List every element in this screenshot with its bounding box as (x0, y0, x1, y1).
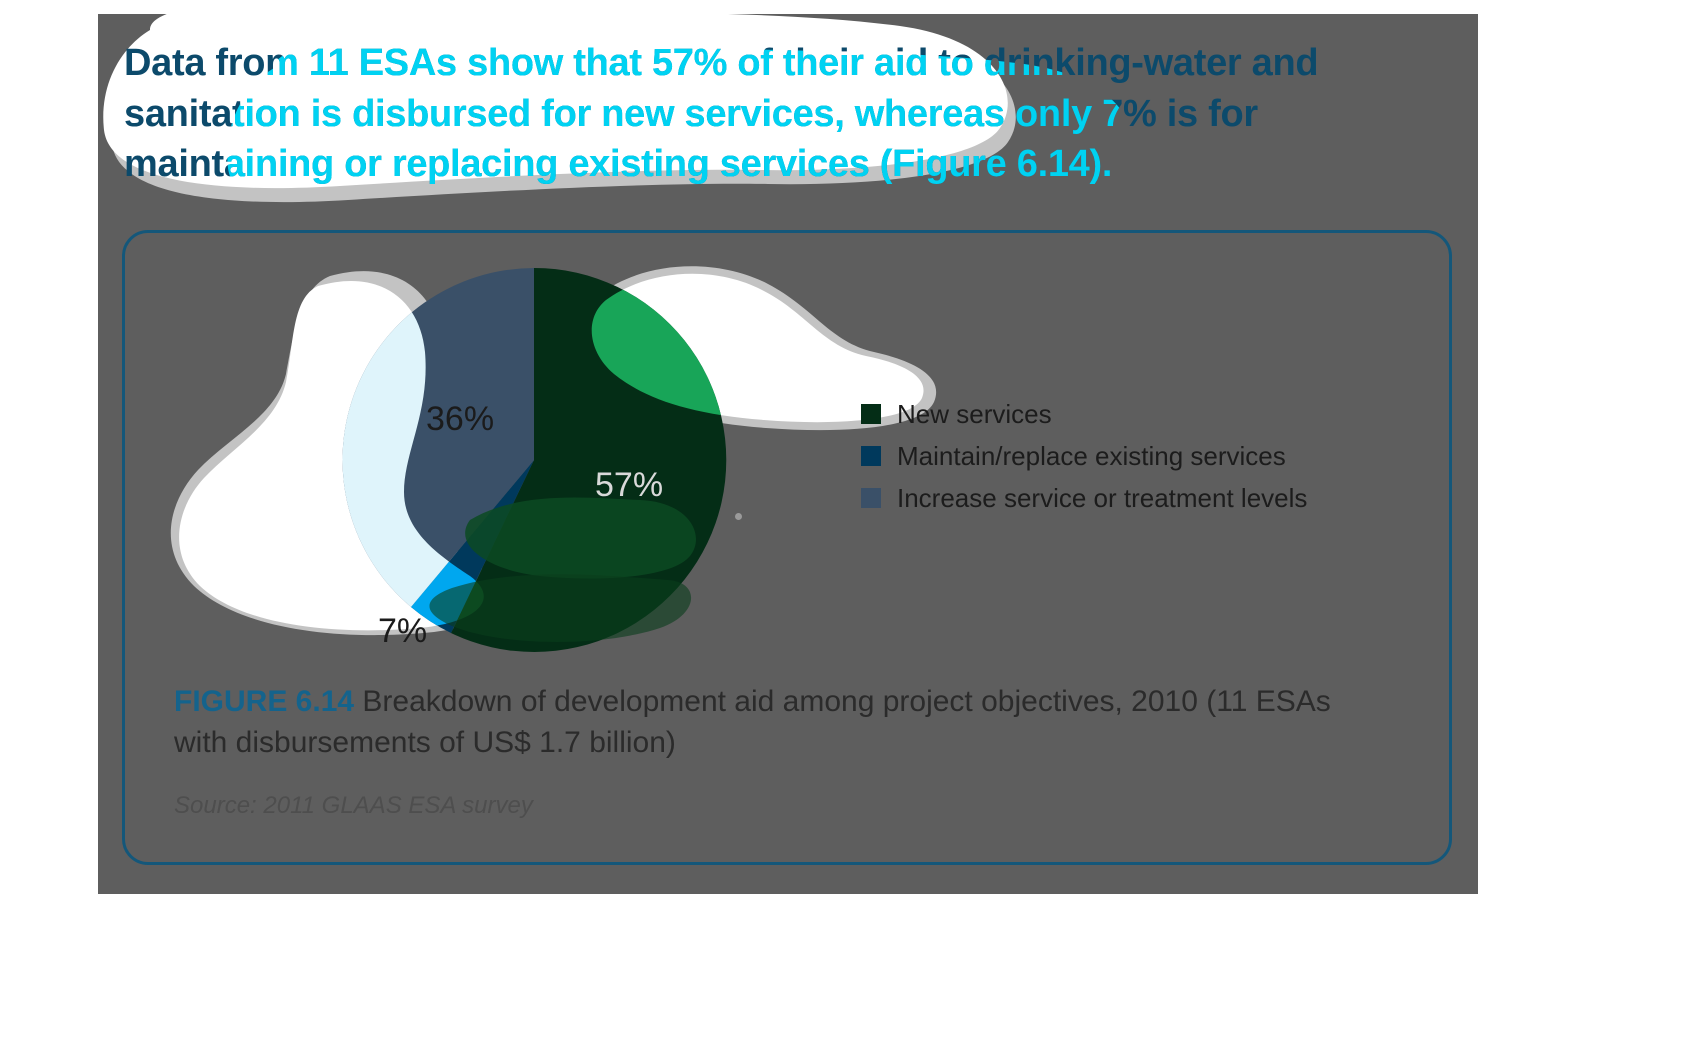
legend-label-increase-levels: Increase service or treatment levels (897, 485, 1307, 511)
pie-label-36: 36% (426, 400, 494, 439)
legend-item-new-services: New services (861, 393, 1307, 435)
figure-caption: FIGURE 6.14 Breakdown of development aid… (174, 682, 1354, 763)
slide-root: Data from 11 ESAs show that 57% of their… (0, 0, 1690, 1062)
legend-item-maintain-replace: Maintain/replace existing services (861, 435, 1307, 477)
legend-swatch-increase-levels (861, 488, 881, 508)
legend-label-maintain-replace: Maintain/replace existing services (897, 443, 1286, 469)
legend-label-new-services: New services (897, 401, 1052, 427)
figure-source: Source: 2011 GLAAS ESA survey (174, 792, 533, 820)
pie-label-7: 7% (378, 612, 427, 651)
decorative-dot (735, 513, 742, 520)
legend-swatch-maintain-replace (861, 446, 881, 466)
legend-swatch-new-services (861, 404, 881, 424)
legend-item-increase-levels: Increase service or treatment levels (861, 477, 1307, 519)
headline-text-base: Data from 11 ESAs show that 57% of their… (124, 38, 1424, 190)
chart-legend: New services Maintain/replace existing s… (861, 393, 1307, 519)
figure-card-border (122, 230, 1452, 865)
pie-label-57: 57% (595, 466, 663, 505)
figure-number: FIGURE 6.14 (174, 685, 354, 718)
